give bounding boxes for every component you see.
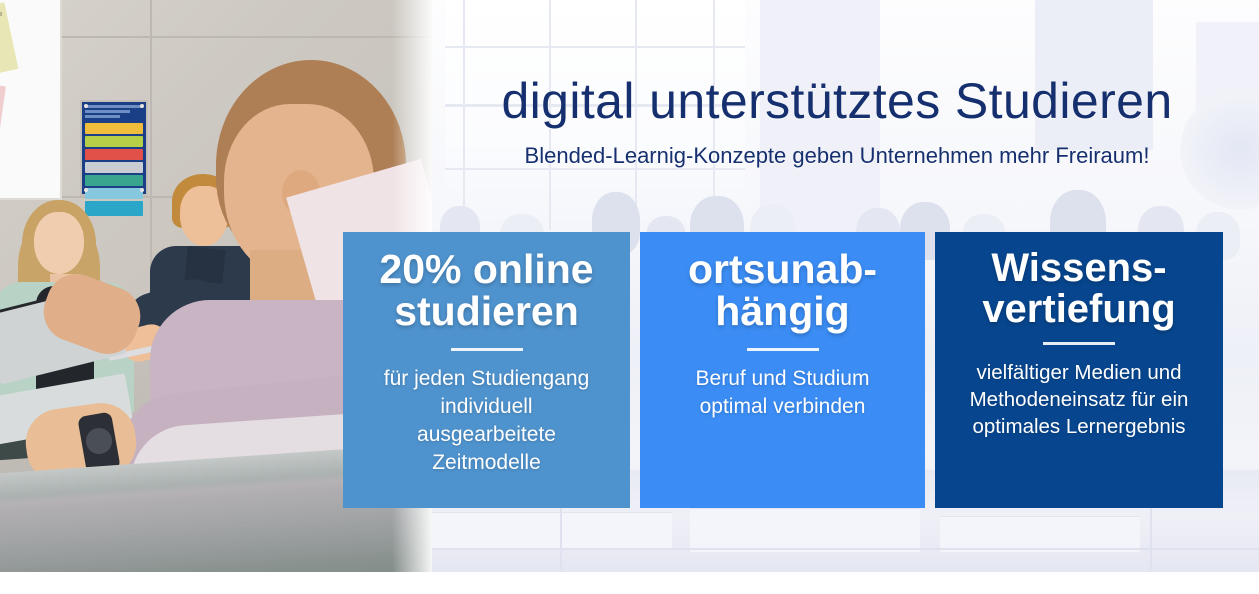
whiteboard-writing — [0, 12, 2, 16]
feature-card-body: vielfältiger Medien und Methodeneinsatz … — [970, 359, 1189, 440]
feature-card-title: 20% online studieren — [379, 248, 593, 332]
feature-card-title-line: studieren — [379, 290, 593, 332]
background-desk — [690, 508, 920, 552]
card-divider — [1043, 342, 1115, 345]
feature-card-wissensvertiefung[interactable]: Wissens- vertiefung vielfältiger Medien … — [935, 232, 1223, 508]
card-divider — [747, 348, 819, 351]
feature-card-title-line: vertiefung — [982, 289, 1175, 330]
feature-card-body: Beruf und Studium optimal verbinden — [696, 365, 870, 420]
feature-card-body-line: ausgearbeitete — [384, 421, 590, 449]
feature-card-body-line: vielfältiger Medien und — [970, 359, 1189, 386]
wall-seam — [0, 36, 432, 38]
page-title: digital unterstütztes Studieren — [432, 72, 1242, 130]
background-desk — [940, 516, 1140, 552]
feature-card-title-line: Wissens- — [982, 248, 1175, 289]
person-man-back-collar — [184, 246, 225, 284]
page-subtitle: Blended-Learnig-Konzepte geben Unternehm… — [432, 143, 1242, 169]
feature-card-body-line: Beruf und Studium — [696, 365, 870, 393]
feature-card-ortsunabhaengig[interactable]: ortsunab- hängig Beruf und Studium optim… — [640, 232, 925, 508]
feature-card-title: ortsunab- hängig — [688, 248, 877, 332]
card-divider — [451, 348, 523, 351]
person-woman-face — [34, 212, 84, 274]
feature-card-online-studieren[interactable]: 20% online studieren für jeden Studienga… — [343, 232, 630, 508]
feature-card-body-line: individuell — [384, 393, 590, 421]
feature-card-body-line: Methodeneinsatz für ein — [970, 386, 1189, 413]
wall-poster — [80, 100, 148, 196]
feature-card-body-line: für jeden Studiengang — [384, 365, 590, 393]
feature-card-body-line: optimal verbinden — [696, 393, 870, 421]
feature-card-title-line: ortsunab- — [688, 248, 877, 290]
feature-card-title-line: 20% online — [379, 248, 593, 290]
feature-card-title: Wissens- vertiefung — [982, 248, 1175, 330]
feature-card-body-line: Zeitmodelle — [384, 449, 590, 477]
promo-banner: digital unterstütztes Studieren Blended-… — [0, 0, 1259, 594]
background-desk-edge — [432, 548, 1259, 550]
bottom-white-strip — [0, 572, 1259, 594]
feature-card-body-line: optimales Lernergebnis — [970, 413, 1189, 440]
feature-card-title-line: hängig — [688, 290, 877, 332]
background-desk — [432, 512, 672, 550]
feature-card-list: 20% online studieren für jeden Studienga… — [343, 232, 1223, 508]
feature-card-body: für jeden Studiengang individuell ausgea… — [384, 365, 590, 476]
